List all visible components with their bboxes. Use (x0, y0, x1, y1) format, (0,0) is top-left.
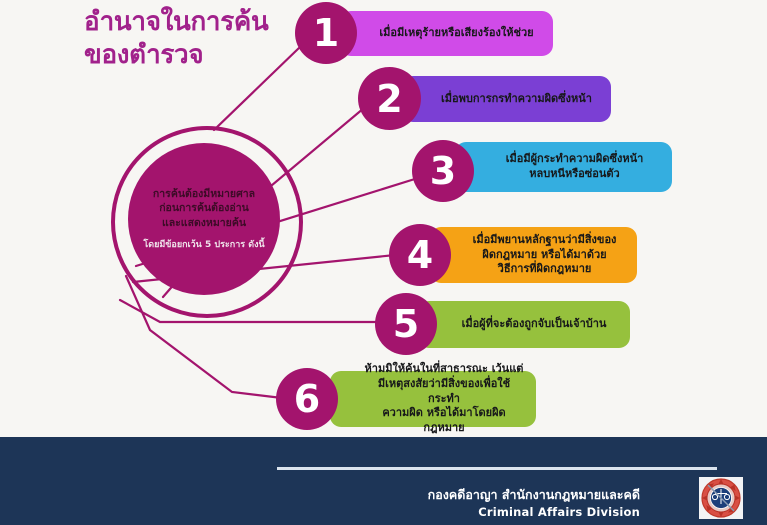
footer-divider (277, 467, 717, 470)
page-title: อำนาจในการค้น ของตำรวจ (84, 6, 324, 73)
item-number-1[interactable]: 1 (295, 2, 357, 64)
hub-main-line-1: การค้นต้องมีหมายศาล (153, 187, 255, 201)
hub-main-line-3: และแสดงหมายค้น (153, 216, 255, 230)
item-2-line-1: เมื่อพบการกรทำความผิดซึ่งหน้า (432, 92, 601, 107)
item-number-3-label: 3 (430, 149, 456, 193)
item-6-line-1: ห้ามมิให้ค้นในที่สาธารณะ เว้นแต่ (362, 362, 526, 377)
item-4-line-3: วิธีการที่ผิดกฎหมาย (462, 262, 627, 277)
item-text-4: เมื่อมีพยานหลักฐานว่ามีสิ่งของ ผิดกฎหมาย… (452, 233, 637, 278)
item-3-line-1: เมื่อมีผู้กระทำความผิดซึ่งหน้า (487, 152, 662, 167)
police-emblem-icon (699, 477, 743, 519)
item-5-line-1: เมื่อผู้ที่จะต้องถูกจับเป็นเจ้าบ้าน (448, 317, 620, 332)
item-4-line-2: ผิดกฎหมาย หรือได้มาด้วย (462, 248, 627, 263)
item-bubble-2[interactable]: เมื่อพบการกรทำความผิดซึ่งหน้า (402, 76, 611, 122)
title-line-2: ของตำรวจ (84, 39, 324, 72)
item-3-line-2: หลบหนีหรือซ่อนตัว (487, 167, 662, 182)
item-bubble-1[interactable]: เมื่อมีเหตุร้ายหรือเสียงร้องให้ช่วย (340, 11, 553, 56)
item-number-3[interactable]: 3 (412, 140, 474, 202)
item-number-4[interactable]: 4 (389, 224, 451, 286)
footer-bar: กองคดีอาญา สำนักงานกฎหมายและคดี Criminal… (0, 437, 767, 525)
item-text-3: เมื่อมีผู้กระทำความผิดซึ่งหน้า หลบหนีหรื… (477, 152, 672, 182)
item-number-6-label: 6 (294, 377, 320, 421)
item-6-line-2: มีเหตุสงสัยว่ามีสิ่งของเพื่อใช้กระทำ (362, 377, 526, 407)
item-4-line-1: เมื่อมีพยานหลักฐานว่ามีสิ่งของ (462, 233, 627, 248)
item-number-4-label: 4 (407, 233, 433, 277)
footer-thai-text: กองคดีอาญา สำนักงานกฎหมายและคดี (0, 485, 710, 505)
footer-english-text: Criminal Affairs Division (0, 505, 710, 519)
item-6-line-3: ความผิด หรือได้มาโดยผิดกฎหมาย (362, 406, 526, 436)
item-bubble-6[interactable]: ห้ามมิให้ค้นในที่สาธารณะ เว้นแต่ มีเหตุส… (330, 371, 536, 427)
item-bubble-4[interactable]: เมื่อมีพยานหลักฐานว่ามีสิ่งของ ผิดกฎหมาย… (430, 227, 637, 283)
item-number-2-label: 2 (376, 77, 402, 121)
infographic-canvas: อำนาจในการค้น ของตำรวจ การค้นต้องมีหมายศ… (0, 0, 767, 525)
item-number-1-label: 1 (313, 11, 339, 55)
item-1-line-1: เมื่อมีเหตุร้ายหรือเสียงร้องให้ช่วย (370, 26, 543, 41)
item-number-6[interactable]: 6 (276, 368, 338, 430)
item-bubble-3[interactable]: เมื่อมีผู้กระทำความผิดซึ่งหน้า หลบหนีหรื… (455, 142, 672, 192)
item-text-2: เมื่อพบการกรทำความผิดซึ่งหน้า (422, 92, 611, 107)
item-number-5-label: 5 (393, 302, 419, 346)
item-text-1: เมื่อมีเหตุร้ายหรือเสียงร้องให้ช่วย (360, 26, 553, 41)
hub-main-text: การค้นต้องมีหมายศาล ก่อนการค้นต้องอ่าน แ… (147, 187, 261, 230)
hub-subtitle: โดยมีข้อยกเว้น 5 ประการ ดังนี้ (143, 237, 264, 251)
item-text-6: ห้ามมิให้ค้นในที่สาธารณะ เว้นแต่ มีเหตุส… (352, 362, 536, 437)
item-number-2[interactable]: 2 (358, 67, 421, 130)
item-text-5: เมื่อผู้ที่จะต้องถูกจับเป็นเจ้าบ้าน (438, 317, 630, 332)
item-number-5[interactable]: 5 (375, 293, 437, 355)
title-line-1: อำนาจในการค้น (84, 7, 268, 37)
hub-main-line-2: ก่อนการค้นต้องอ่าน (153, 201, 255, 215)
hub-circle: การค้นต้องมีหมายศาล ก่อนการค้นต้องอ่าน แ… (128, 143, 280, 295)
item-bubble-5[interactable]: เมื่อผู้ที่จะต้องถูกจับเป็นเจ้าบ้าน (418, 301, 630, 348)
